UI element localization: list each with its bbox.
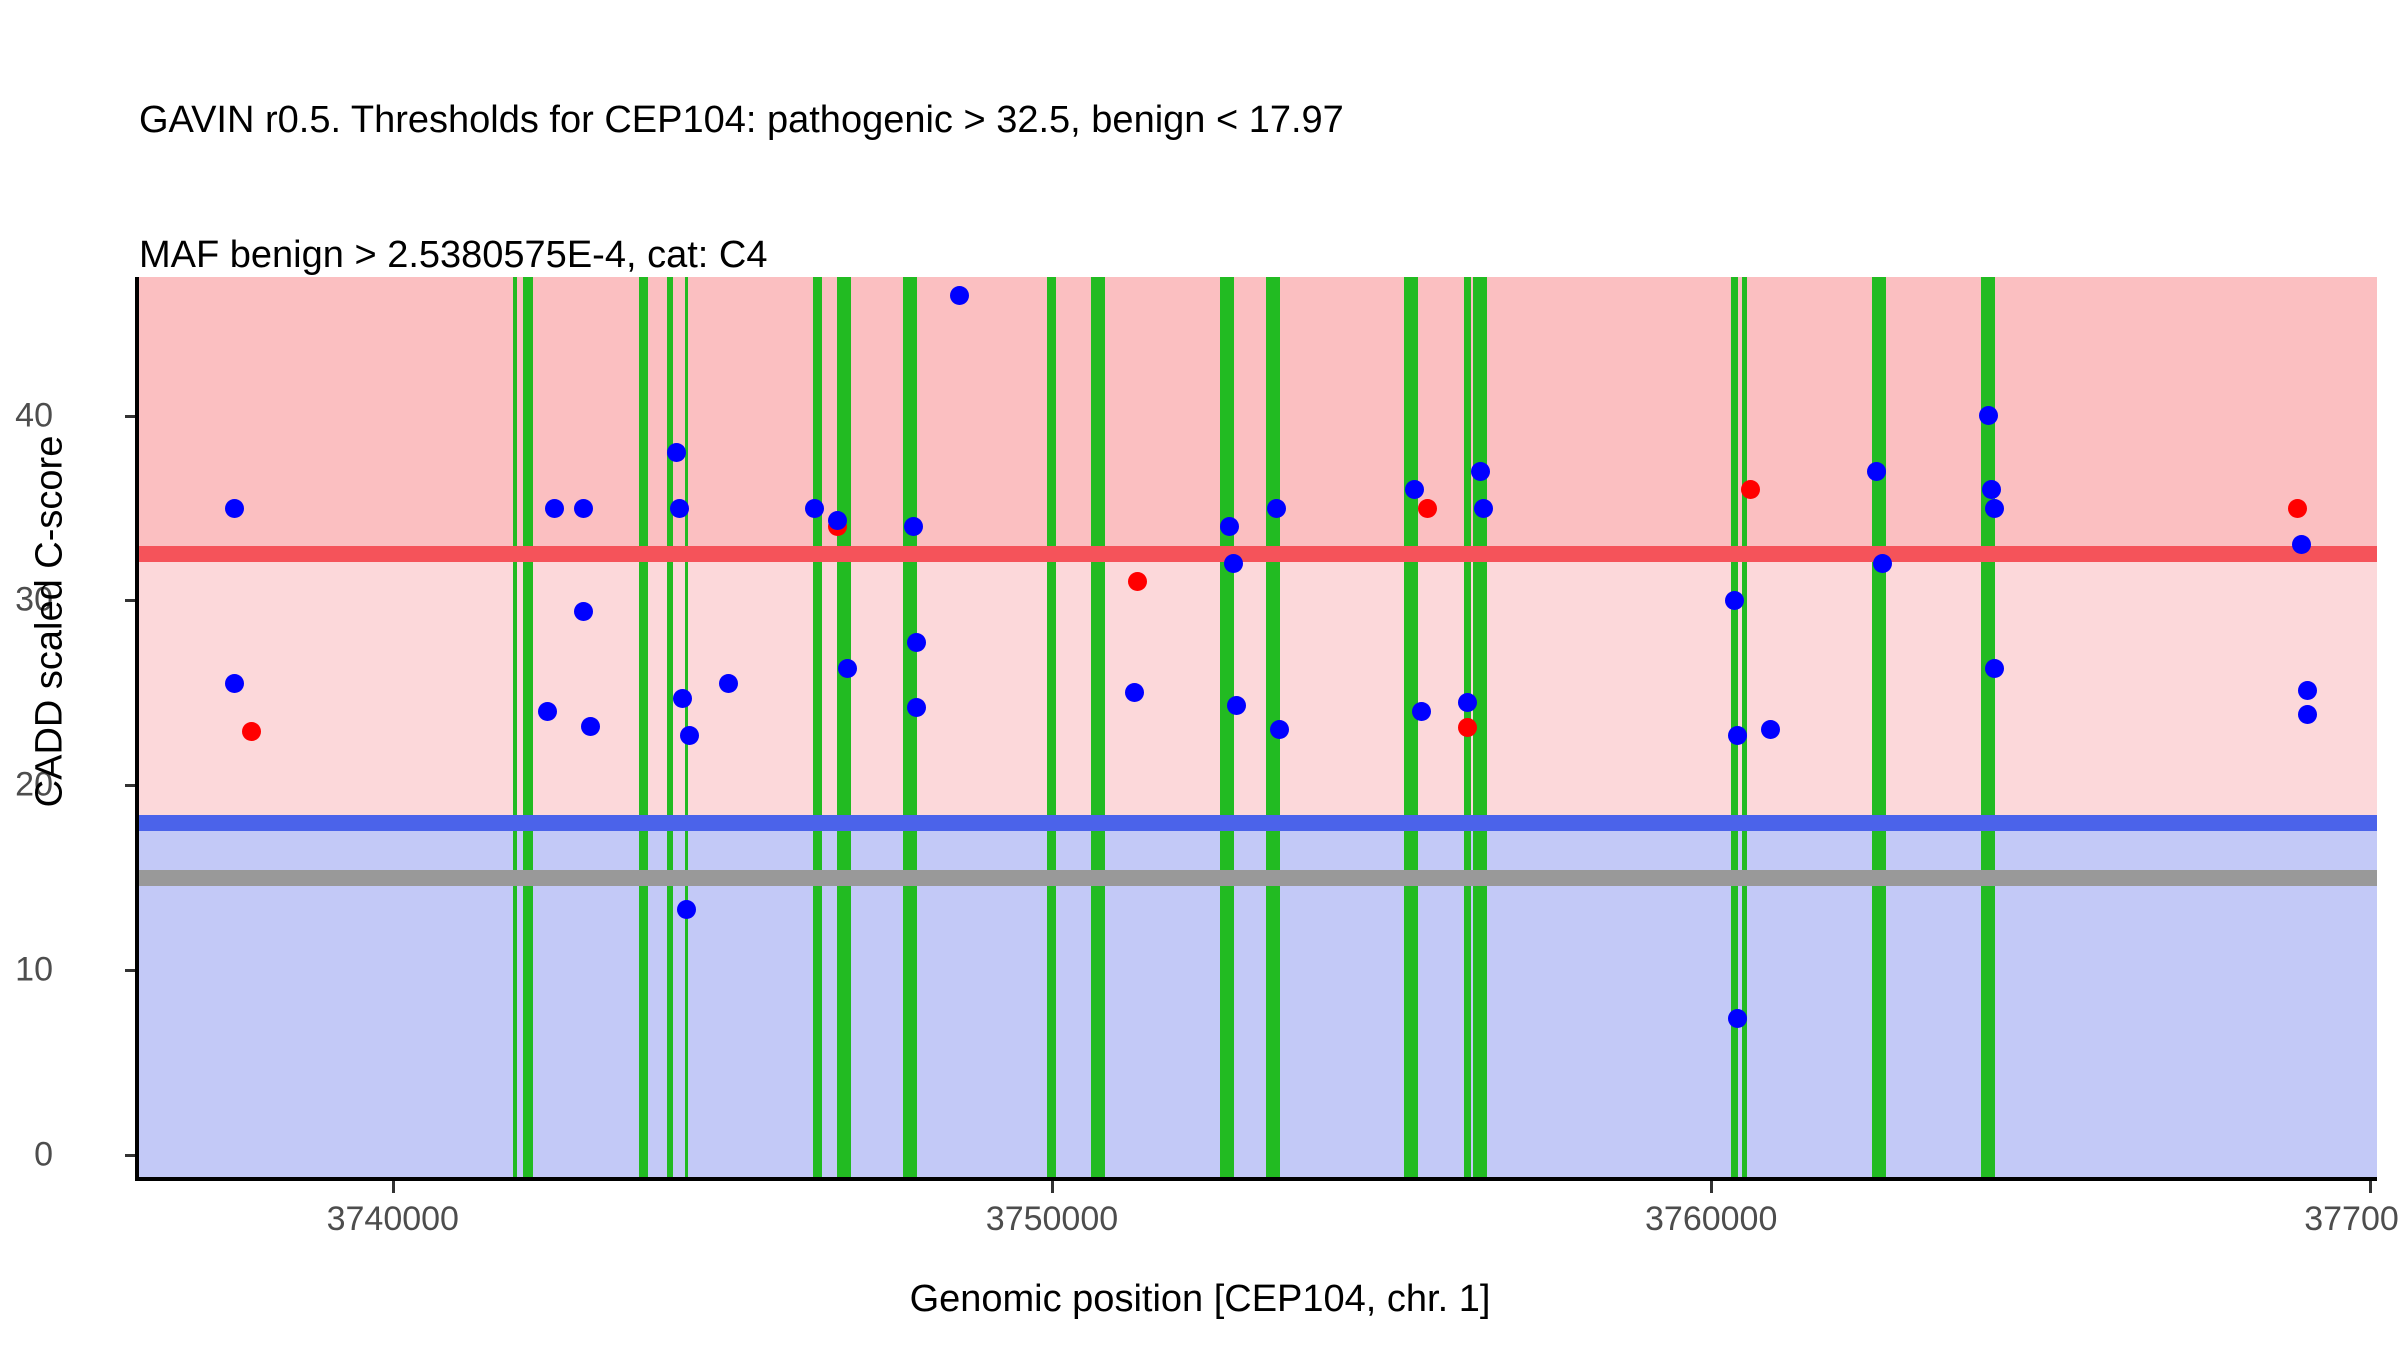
exon-line [903,277,917,1177]
gnomad-point [677,900,696,919]
x-tick [1051,1181,1054,1193]
band-pathogenic [139,277,2377,554]
gnomad-point [805,499,824,518]
gnomad-point [670,499,689,518]
gnomad-point [1405,480,1424,499]
x-axis-label: Genomic position [CEP104, chr. 1] [0,1278,2400,1321]
y-tick-label: 0 [34,1135,53,1174]
y-tick [125,784,135,787]
gnomad-point [1728,1009,1747,1028]
gnomad-point [225,499,244,518]
threshold-line-pathogenic [139,546,2377,562]
threshold-line-benign [139,815,2377,831]
y-axis-line [135,277,139,1177]
x-tick [392,1181,395,1193]
gnomad-point [1474,499,1493,518]
gnomad-point [1982,480,2001,499]
gnomad-point [581,717,600,736]
gnomad-point [1458,693,1477,712]
exon-line [1047,277,1056,1177]
exon-line [1872,277,1886,1177]
gnomad-point [680,726,699,745]
title-line-1: GAVIN r0.5. Thresholds for CEP104: patho… [139,98,2239,143]
y-axis-label: CADD scaled C-score [29,272,72,972]
gnomad-point [1412,702,1431,721]
gnomad-point [1725,591,1744,610]
band-intermediate [139,554,2377,823]
gnomad-point [667,443,686,462]
gnomad-point [1985,499,2004,518]
exon-line [1404,277,1418,1177]
exon-line [813,277,822,1177]
gnomad-point [1471,462,1490,481]
gnomad-point [538,702,557,721]
x-tick-label: 3770000 [2304,1200,2400,1239]
gnomad-point [904,517,923,536]
y-tick [125,969,135,972]
clinvar-point [2288,499,2307,518]
x-axis-line [135,1177,2377,1181]
gnomad-point [1728,726,1747,745]
y-tick [125,1154,135,1157]
gnomad-point [574,499,593,518]
y-tick [125,415,135,418]
exon-line [523,277,533,1177]
exon-line [513,277,517,1177]
chart-root: GAVIN r0.5. Thresholds for CEP104: patho… [0,0,2400,1350]
exon-line [1220,277,1234,1177]
gnomad-point [225,674,244,693]
clinvar-point [1418,499,1437,518]
exon-line [667,277,673,1177]
gnomad-point [1224,554,1243,573]
title-line-2: MAF benign > 2.5380575E-4, cat: C4 [139,233,2239,278]
y-tick [125,599,135,602]
exon-line [1091,277,1105,1177]
plot-panel [139,277,2377,1177]
gnomad-point [1867,462,1886,481]
x-tick [2369,1181,2372,1193]
x-tick-label: 3750000 [986,1200,1118,1239]
exon-line [639,277,648,1177]
x-tick-label: 3740000 [327,1200,459,1239]
threshold-line-genome-wide-fallback [139,870,2377,886]
gnomad-point [545,499,564,518]
gnomad-point [1267,499,1286,518]
gnomad-point [1979,406,1998,425]
x-tick-label: 3760000 [1645,1200,1777,1239]
exon-line [837,277,851,1177]
x-tick [1710,1181,1713,1193]
gnomad-point [1873,554,1892,573]
clinvar-point [242,722,261,741]
